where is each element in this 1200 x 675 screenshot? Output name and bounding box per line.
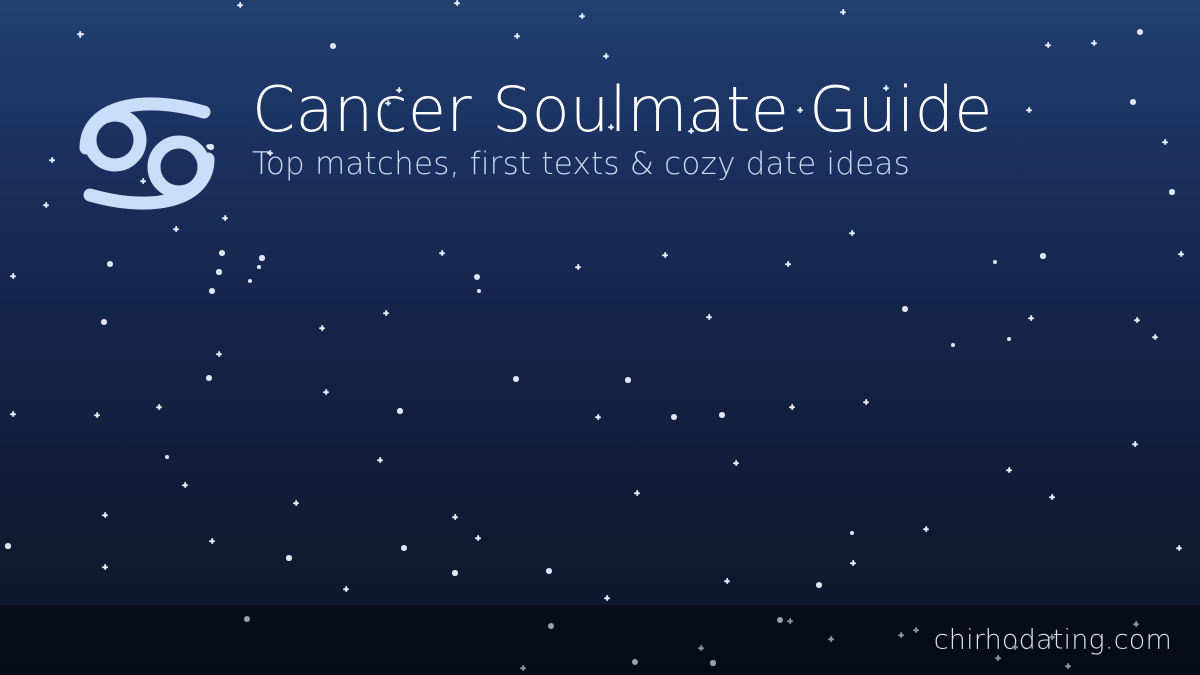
star-sparkle-icon xyxy=(1049,494,1055,500)
star-dot xyxy=(206,375,212,381)
star-dot xyxy=(671,414,677,420)
star-sparkle-icon xyxy=(319,325,325,331)
star-sparkle-icon xyxy=(849,230,855,236)
star-sparkle-icon xyxy=(1091,40,1097,46)
star-dot xyxy=(452,570,457,575)
star-dot xyxy=(209,288,215,294)
star-sparkle-icon xyxy=(514,33,520,39)
star-dot xyxy=(850,531,854,535)
header: Cancer Soulmate Guide Top matches, first… xyxy=(72,78,993,221)
star-dot xyxy=(1137,29,1143,35)
star-dot xyxy=(216,269,221,274)
star-sparkle-icon xyxy=(1012,644,1018,650)
star-dot xyxy=(165,455,169,459)
star-sparkle-icon xyxy=(439,250,445,256)
star-sparkle-icon xyxy=(1006,467,1012,473)
star-dot xyxy=(1130,99,1136,105)
star-dot xyxy=(5,543,10,548)
star-dot xyxy=(286,555,291,560)
star-dot xyxy=(546,568,552,574)
star-sparkle-icon xyxy=(102,512,108,518)
star-sparkle-icon xyxy=(94,412,100,418)
star-sparkle-icon xyxy=(293,500,299,506)
star-dot xyxy=(719,412,725,418)
star-sparkle-icon xyxy=(216,351,222,357)
star-sparkle-icon xyxy=(579,13,585,19)
star-dot xyxy=(710,660,715,665)
star-sparkle-icon xyxy=(43,202,49,208)
star-sparkle-icon xyxy=(733,460,739,466)
star-sparkle-icon xyxy=(209,538,215,544)
star-sparkle-icon xyxy=(343,586,349,592)
star-sparkle-icon xyxy=(603,53,609,59)
star-sparkle-icon xyxy=(1045,42,1051,48)
title-block: Cancer Soulmate Guide Top matches, first… xyxy=(252,78,993,181)
star-sparkle-icon xyxy=(1028,315,1034,321)
page-subtitle: Top matches, first texts & cozy date ide… xyxy=(252,147,993,181)
star-sparkle-icon xyxy=(698,645,704,651)
star-sparkle-icon xyxy=(1132,441,1138,447)
star-sparkle-icon xyxy=(995,655,1001,661)
footer-band: chirhodating.com xyxy=(0,605,1200,675)
star-sparkle-icon xyxy=(634,490,640,496)
page-title: Cancer Soulmate Guide xyxy=(252,78,993,141)
star-sparkle-icon xyxy=(10,273,16,279)
star-sparkle-icon xyxy=(49,157,55,163)
star-sparkle-icon xyxy=(706,314,712,320)
star-dot xyxy=(397,408,402,413)
star-sparkle-icon xyxy=(454,0,460,6)
star-sparkle-icon xyxy=(1178,251,1184,257)
star-sparkle-icon xyxy=(1026,107,1032,113)
star-dot xyxy=(902,306,908,312)
star-dot xyxy=(259,255,264,260)
star-dot xyxy=(993,260,997,264)
star-sparkle-icon xyxy=(377,457,383,463)
star-dot xyxy=(625,377,630,382)
star-sparkle-icon xyxy=(383,310,389,316)
star-dot xyxy=(1007,337,1011,341)
star-dot xyxy=(244,616,250,622)
star-dot xyxy=(107,261,113,267)
star-dot xyxy=(401,545,407,551)
star-sparkle-icon xyxy=(77,31,84,38)
star-dot xyxy=(777,617,783,623)
star-sparkle-icon xyxy=(156,404,162,410)
star-sparkle-icon xyxy=(10,411,16,417)
poster-canvas: Cancer Soulmate Guide Top matches, first… xyxy=(0,0,1200,675)
star-sparkle-icon xyxy=(1049,634,1055,640)
star-sparkle-icon xyxy=(182,482,188,488)
star-sparkle-icon xyxy=(595,414,601,420)
star-sparkle-icon xyxy=(604,595,610,601)
star-dot xyxy=(219,250,225,256)
star-dot xyxy=(1169,189,1174,194)
star-dot xyxy=(474,274,480,280)
star-dot xyxy=(1040,253,1045,258)
star-sparkle-icon xyxy=(789,404,795,410)
star-dot xyxy=(548,623,554,629)
star-sparkle-icon xyxy=(1162,139,1168,145)
star-sparkle-icon xyxy=(237,2,243,8)
star-sparkle-icon xyxy=(575,264,581,270)
star-dot xyxy=(513,376,519,382)
star-sparkle-icon xyxy=(923,526,929,532)
star-sparkle-icon xyxy=(452,514,458,520)
star-sparkle-icon xyxy=(898,632,904,638)
star-dot xyxy=(477,289,482,294)
star-sparkle-icon xyxy=(724,578,730,584)
star-sparkle-icon xyxy=(102,564,108,570)
star-sparkle-icon xyxy=(863,399,869,405)
star-sparkle-icon xyxy=(323,389,329,395)
star-sparkle-icon xyxy=(840,9,846,15)
star-sparkle-icon xyxy=(662,252,668,258)
star-sparkle-icon xyxy=(475,535,481,541)
site-url: chirhodating.com xyxy=(934,625,1172,656)
star-sparkle-icon xyxy=(1133,621,1139,627)
star-dot xyxy=(816,582,822,588)
star-sparkle-icon xyxy=(785,261,791,267)
star-sparkle-icon xyxy=(1065,663,1071,669)
star-dot xyxy=(248,279,253,284)
star-dot xyxy=(330,43,336,49)
star-dot xyxy=(632,659,638,665)
star-sparkle-icon xyxy=(913,627,919,633)
star-sparkle-icon xyxy=(1152,334,1158,340)
star-dot xyxy=(951,343,956,348)
star-sparkle-icon xyxy=(1134,317,1140,323)
star-sparkle-icon xyxy=(520,665,526,671)
star-sparkle-icon xyxy=(828,636,834,642)
star-sparkle-icon xyxy=(850,560,856,566)
star-sparkle-icon xyxy=(173,226,179,232)
cancer-zodiac-glyph xyxy=(72,86,222,221)
star-sparkle-icon xyxy=(1176,545,1182,551)
star-dot xyxy=(257,265,261,269)
star-sparkle-icon xyxy=(787,618,793,624)
star-dot xyxy=(101,319,107,325)
